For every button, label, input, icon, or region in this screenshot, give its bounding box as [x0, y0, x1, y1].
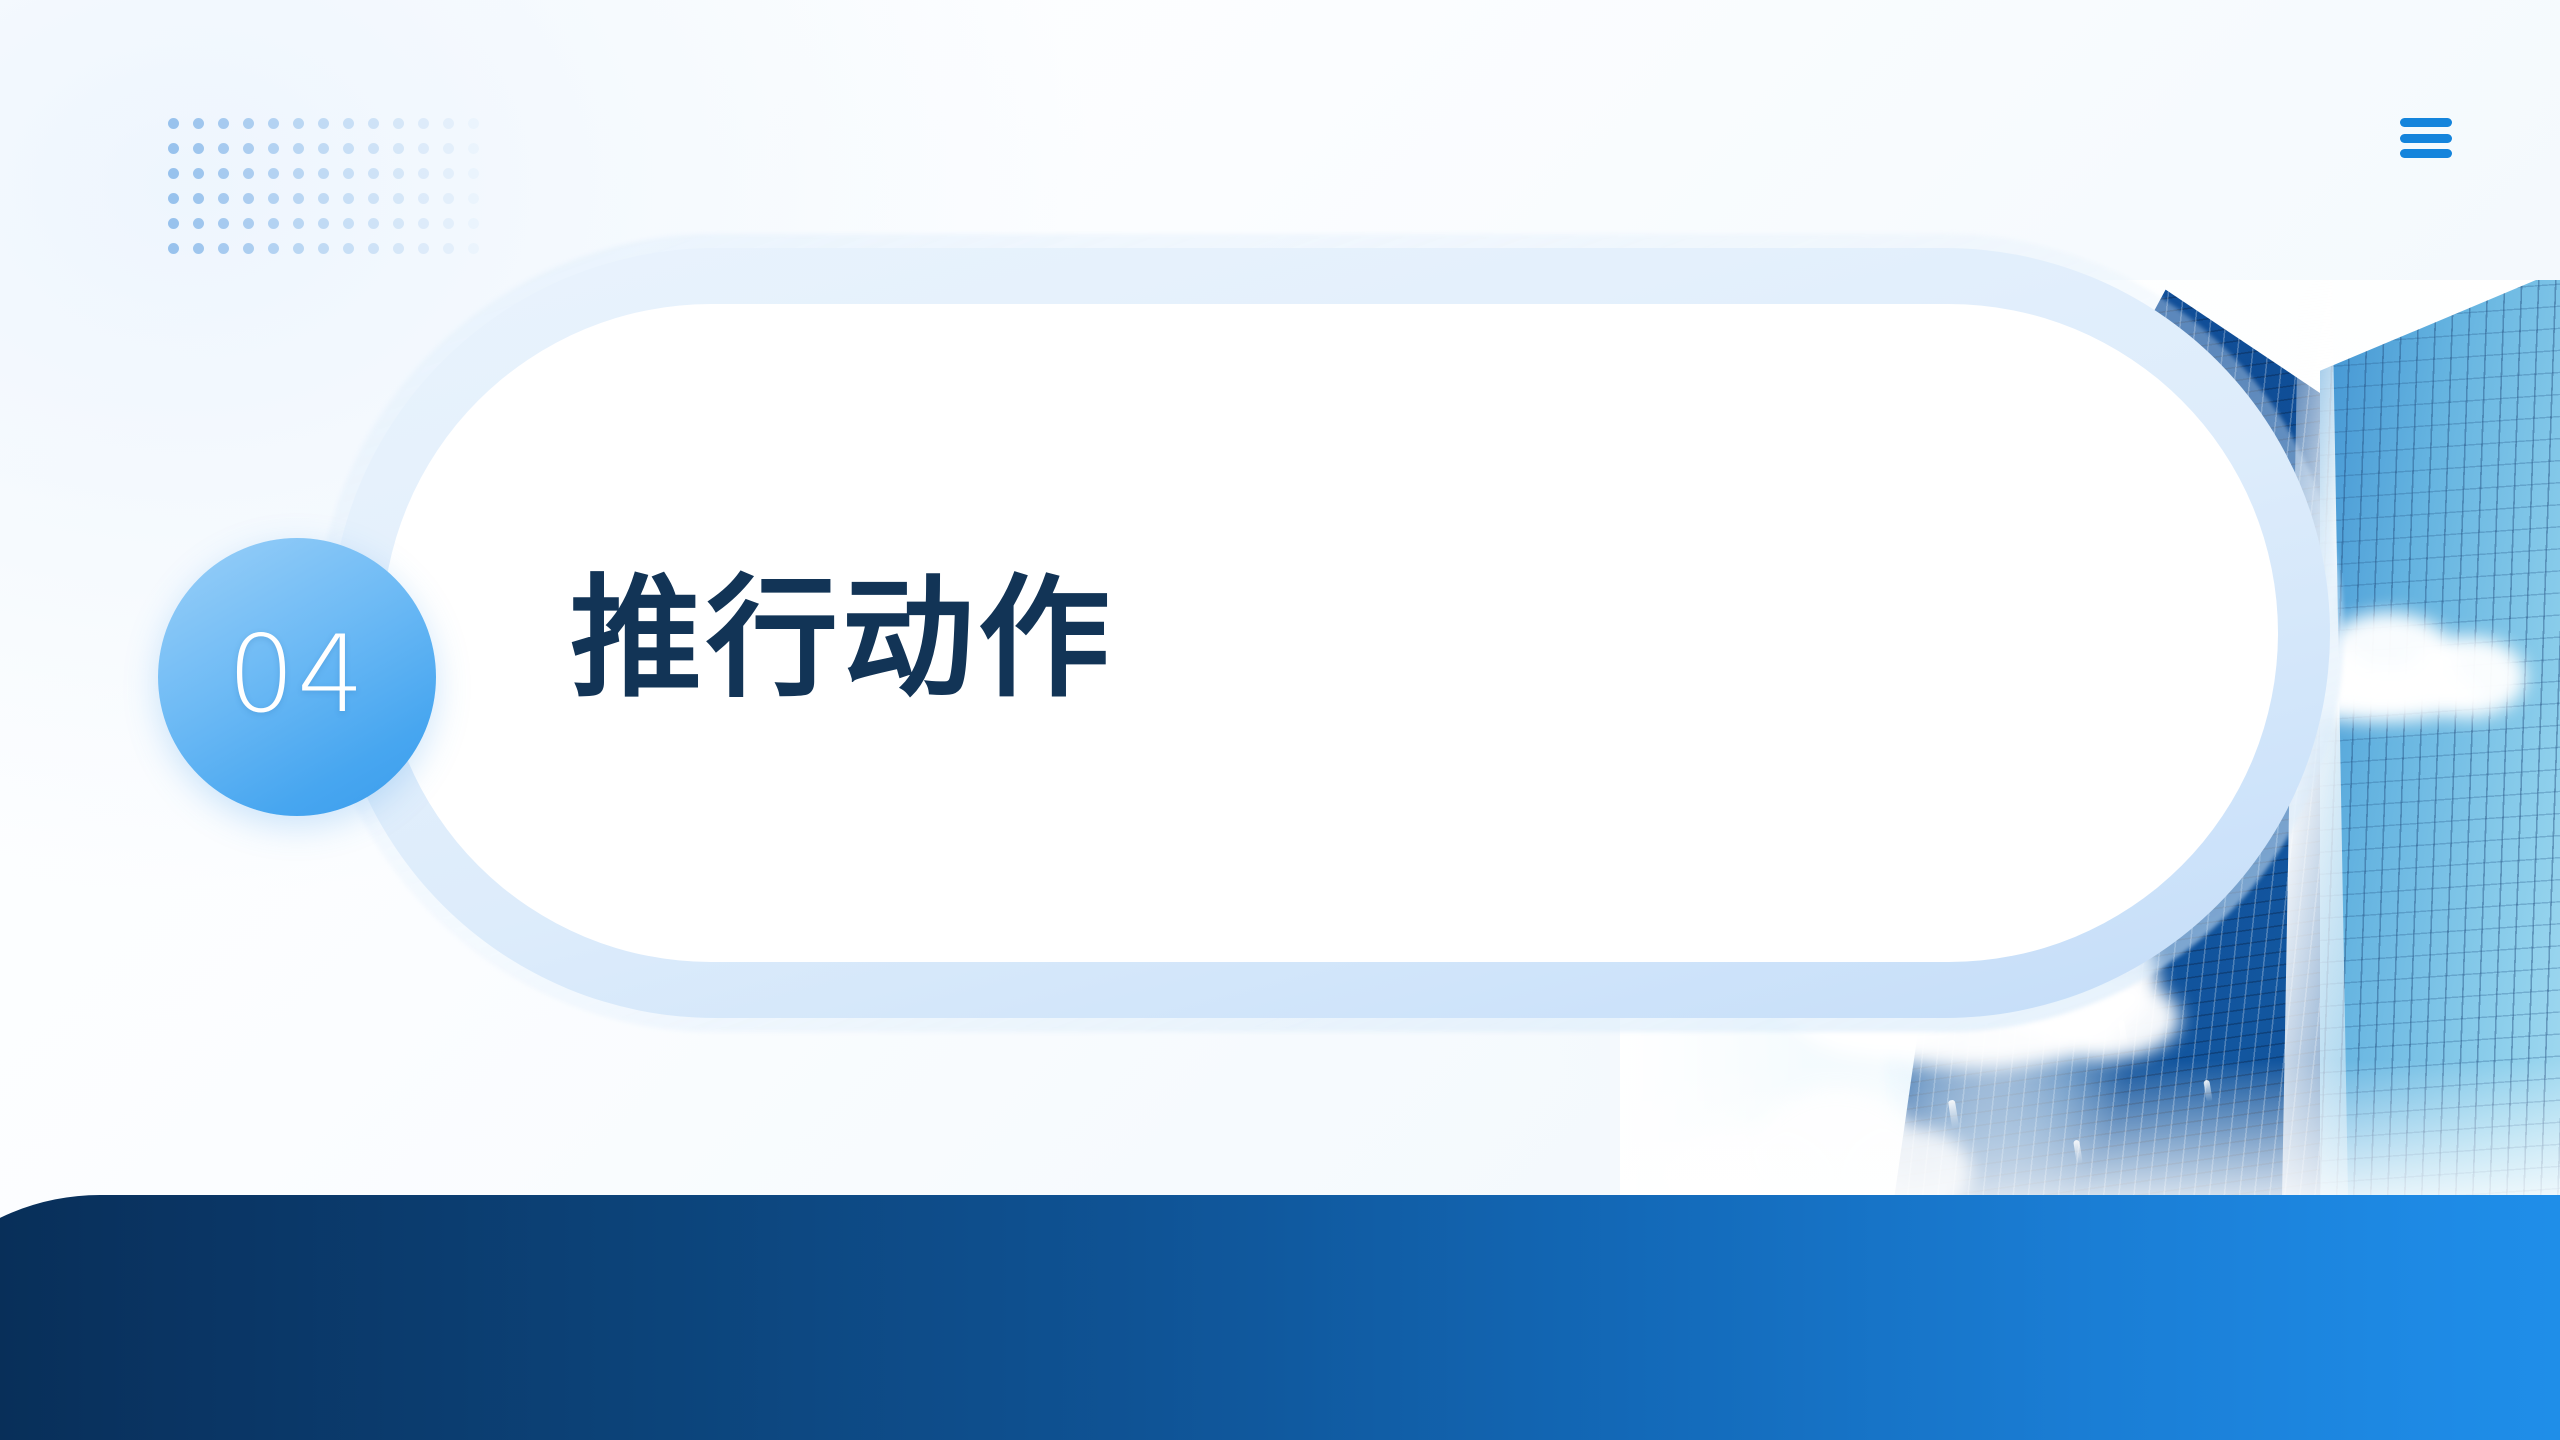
dot-grid-dot	[343, 193, 354, 204]
dot-grid-dot	[468, 168, 479, 179]
dot-grid-dot	[318, 218, 329, 229]
dot-grid-dot	[343, 118, 354, 129]
dot-grid-dot	[443, 193, 454, 204]
dot-grid-dot	[368, 118, 379, 129]
dot-grid-dot	[368, 168, 379, 179]
hamburger-menu-icon[interactable]	[2400, 118, 2452, 158]
dot-grid-dot	[168, 243, 179, 254]
dot-grid-row	[168, 193, 518, 218]
dot-grid-dot	[318, 118, 329, 129]
dot-grid-dot	[293, 143, 304, 154]
dot-grid-dot	[393, 143, 404, 154]
dot-grid-dot	[193, 118, 204, 129]
dot-grid-dot	[393, 218, 404, 229]
dot-grid-dot	[393, 193, 404, 204]
dot-grid-dot	[468, 193, 479, 204]
dot-grid-dot	[218, 168, 229, 179]
menu-bar-middle	[2400, 134, 2452, 143]
dot-grid-dot	[218, 218, 229, 229]
dot-grid-dot	[318, 193, 329, 204]
section-number-badge[interactable]: 04	[158, 538, 436, 816]
dot-grid-dot	[193, 168, 204, 179]
dot-grid-dot	[218, 143, 229, 154]
dot-grid-dot	[468, 143, 479, 154]
dot-grid-dot	[293, 218, 304, 229]
dot-grid-dot	[243, 243, 254, 254]
dot-grid-dot	[293, 193, 304, 204]
dot-grid-dot	[218, 193, 229, 204]
dot-grid-dot	[418, 193, 429, 204]
menu-bar-bottom	[2400, 149, 2452, 158]
dot-grid-row	[168, 218, 518, 243]
dot-grid-dot	[318, 143, 329, 154]
dot-grid-dot	[193, 218, 204, 229]
dot-grid-dot	[343, 168, 354, 179]
dot-grid-row	[168, 143, 518, 168]
dot-grid-dot	[168, 118, 179, 129]
dot-grid-dot	[343, 143, 354, 154]
dot-grid-dot	[293, 243, 304, 254]
dot-grid-dot	[418, 168, 429, 179]
slide-root: 04 推行动作	[0, 0, 2560, 1440]
dot-grid-dot	[368, 193, 379, 204]
dot-grid-dot	[293, 168, 304, 179]
dot-grid-dot	[268, 143, 279, 154]
dot-grid-row	[168, 118, 518, 143]
footer-band	[0, 1195, 2560, 1440]
dot-grid-dot	[193, 243, 204, 254]
dot-grid-dot	[293, 118, 304, 129]
dot-grid-dot	[468, 118, 479, 129]
dot-grid-dot	[393, 168, 404, 179]
dot-grid-dot	[243, 118, 254, 129]
dot-grid-dot	[243, 143, 254, 154]
dot-grid-dot	[443, 143, 454, 154]
dot-grid-dot	[193, 193, 204, 204]
dot-grid-dot	[193, 143, 204, 154]
dot-grid-dot	[418, 218, 429, 229]
dot-grid-dot	[268, 218, 279, 229]
dot-grid-dot	[168, 168, 179, 179]
dot-grid-dot	[368, 143, 379, 154]
section-number-label: 04	[228, 622, 367, 728]
dot-grid-dot	[268, 118, 279, 129]
dot-grid-dot	[268, 168, 279, 179]
dot-grid-row	[168, 168, 518, 193]
dot-grid-dot	[443, 218, 454, 229]
dot-grid-dot	[168, 143, 179, 154]
dot-grid-dot	[218, 243, 229, 254]
menu-bar-top	[2400, 118, 2452, 127]
dot-grid-dot	[243, 168, 254, 179]
dot-grid-dot	[443, 168, 454, 179]
dot-grid-dot	[393, 118, 404, 129]
dot-grid-dot	[443, 118, 454, 129]
dot-grid-dot	[418, 143, 429, 154]
page-title: 推行动作	[570, 566, 1114, 714]
dot-grid-dot	[243, 218, 254, 229]
dot-grid-dot	[343, 218, 354, 229]
dot-grid-dot	[418, 118, 429, 129]
dot-grid-icon	[168, 118, 518, 268]
dot-grid-dot	[243, 193, 254, 204]
dot-grid-dot	[468, 218, 479, 229]
dot-grid-dot	[318, 243, 329, 254]
dot-grid-dot	[168, 218, 179, 229]
dot-grid-dot	[318, 168, 329, 179]
dot-grid-dot	[218, 118, 229, 129]
dot-grid-dot	[268, 193, 279, 204]
dot-grid-dot	[168, 193, 179, 204]
dot-grid-dot	[368, 218, 379, 229]
dot-grid-dot	[268, 243, 279, 254]
